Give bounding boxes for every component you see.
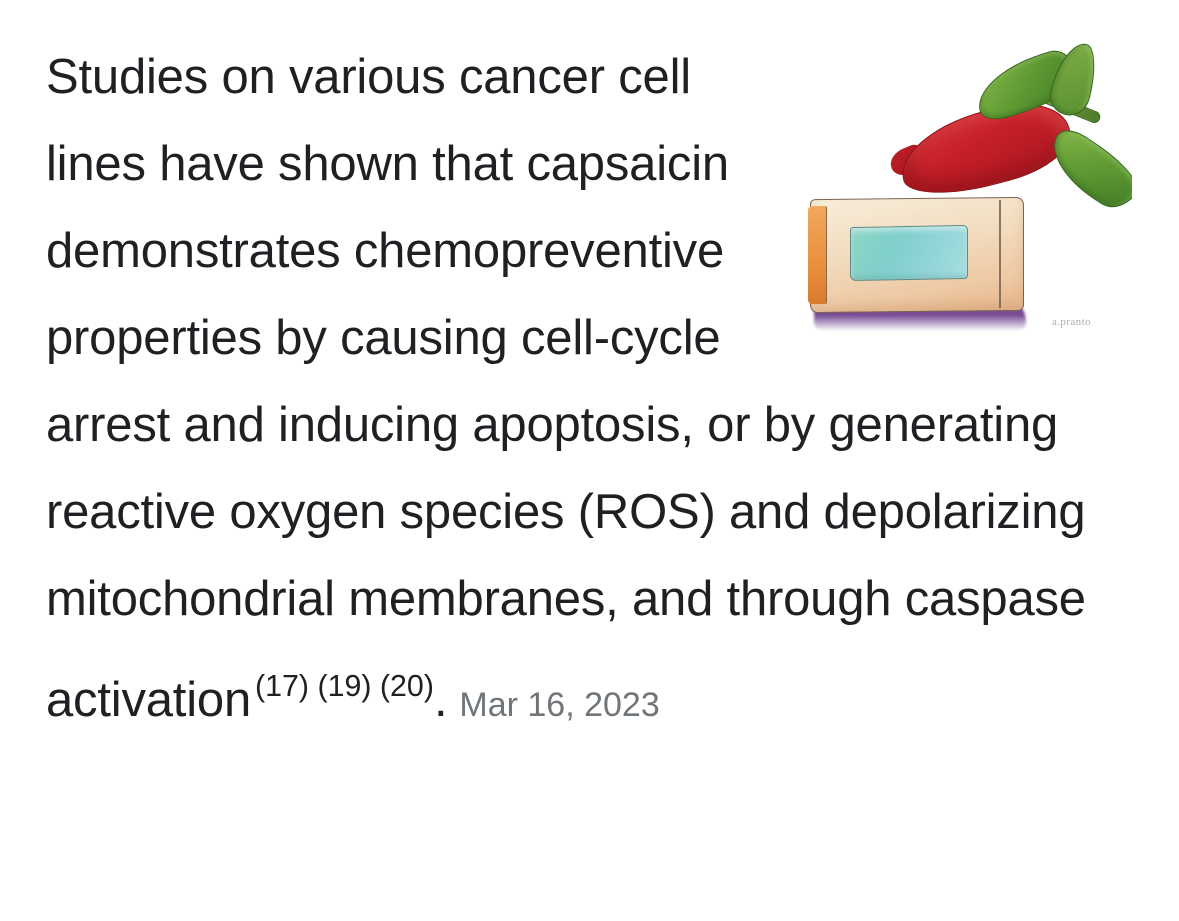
answer-card: a.pranto Studies on various cancer cell … [0, 0, 1179, 921]
citation-references[interactable]: (17) (19) (20) [251, 669, 434, 703]
featured-snippet-text: Studies on various cancer cell lines hav… [46, 34, 1136, 749]
date-stamp: Mar 16, 2023 [447, 686, 659, 724]
text-wrap-spacer [810, 40, 1136, 364]
sentence-period: . [434, 673, 447, 727]
